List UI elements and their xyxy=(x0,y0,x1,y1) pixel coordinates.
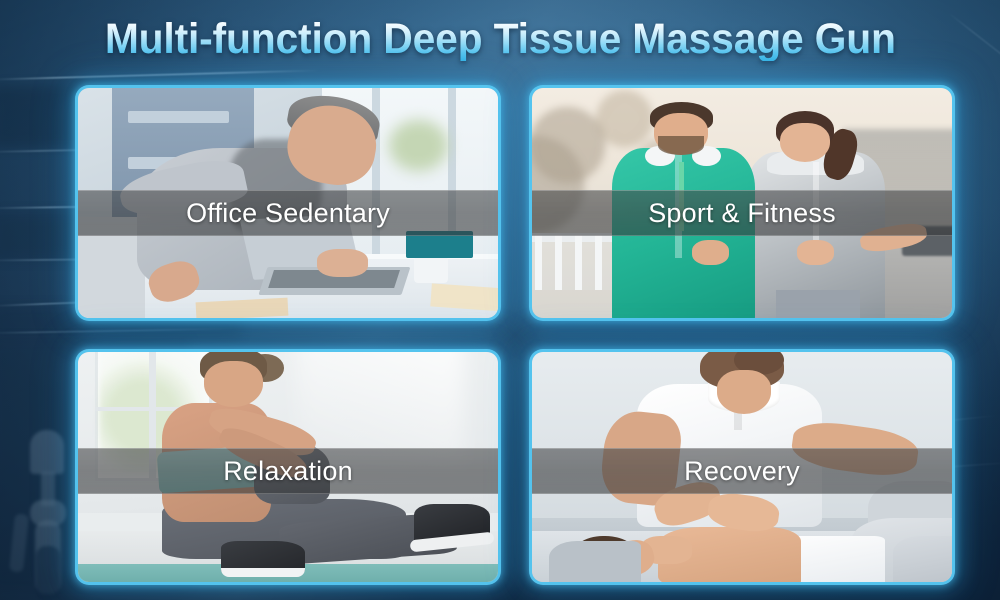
man-beard xyxy=(658,136,704,154)
card-label-band-relaxation: Relaxation xyxy=(78,448,498,494)
desk-cup xyxy=(414,258,448,283)
table-headrest xyxy=(549,541,641,582)
woman-face xyxy=(204,361,263,407)
therapist-face xyxy=(717,370,772,414)
card-label-recovery: Recovery xyxy=(684,456,800,487)
man-hand-on-laptop xyxy=(317,249,367,277)
window-foliage xyxy=(389,120,448,171)
poster-canvas: Multi-function Deep Tissue Massage Gun xyxy=(0,0,1000,600)
page-title: Multi-function Deep Tissue Massage Gun xyxy=(105,18,896,61)
card-office-sedentary[interactable]: Office Sedentary xyxy=(78,88,498,318)
card-label-relaxation: Relaxation xyxy=(223,456,353,487)
sneaker-sole xyxy=(221,568,305,577)
woman-hand xyxy=(797,240,835,265)
man-hand xyxy=(692,240,730,265)
page-header: Multi-function Deep Tissue Massage Gun xyxy=(0,8,1000,70)
client-trousers xyxy=(893,536,952,582)
woman-leggings xyxy=(776,290,860,318)
card-recovery[interactable]: Recovery xyxy=(532,352,952,582)
card-label-sport-fitness: Sport & Fitness xyxy=(648,198,836,229)
cabinet-handle xyxy=(128,111,229,123)
card-relaxation[interactable]: Relaxation xyxy=(78,352,498,582)
card-sport-fitness[interactable]: Sport & Fitness xyxy=(532,88,952,318)
card-label-office-sedentary: Office Sedentary xyxy=(186,198,390,229)
card-label-band-recovery: Recovery xyxy=(532,448,952,494)
card-label-band-sport-fitness: Sport & Fitness xyxy=(532,190,952,236)
woman-face xyxy=(780,123,830,162)
card-label-band-office-sedentary: Office Sedentary xyxy=(78,190,498,236)
